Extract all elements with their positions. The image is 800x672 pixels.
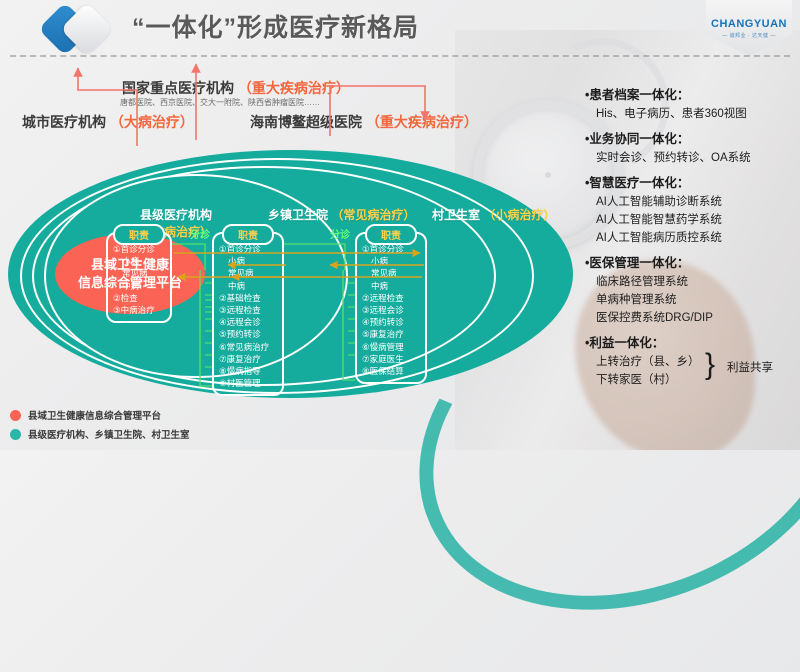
brand-name: CHANGYUAN xyxy=(706,18,792,30)
duty-item: ⑧慢病指导 xyxy=(219,365,277,377)
page-title: “一体化”形成医疗新格局 xyxy=(132,8,419,44)
duty-item: ②检查 xyxy=(113,292,165,304)
integration-lines: 实时会诊、预约转诊、OA系统 xyxy=(585,149,800,165)
duty-item: ⑦家庭医生 xyxy=(362,353,420,365)
slide-header: “一体化”形成医疗新格局 CHANGYUAN — 诚邦业 · 达天健 — xyxy=(0,0,800,58)
duty-card-village: 职责 ①首诊分诊小病常见病中病②远程检查③远程会诊④预约转诊⑤康复治疗⑥慢病管理… xyxy=(355,224,427,384)
diamond-logo-icon xyxy=(46,6,122,52)
duty-list-county: ①首诊分诊小病常见病中病②检查③中病治疗 xyxy=(113,243,165,316)
legend-label: 县域卫生健康信息综合管理平台 xyxy=(28,408,161,422)
duty-item: 中病 xyxy=(113,280,165,292)
duty-item: 常见病 xyxy=(362,267,420,279)
tier-paren-township: （常见病治疗） xyxy=(331,208,415,222)
duty-item: ⑨村医管理 xyxy=(219,377,277,389)
duty-title-county: 职责 xyxy=(113,224,165,245)
duty-title-village: 职责 xyxy=(365,224,417,245)
duty-item: ⑥常见病治疗 xyxy=(219,341,277,353)
duty-list-township: ①首诊分诊小病常见病中病②基础检查③远程检查④远程会诊⑤预约转诊⑥常见病治疗⑦康… xyxy=(219,243,277,389)
triage-label-2: 分诊 xyxy=(330,226,350,241)
duty-item: ⑧医保结算 xyxy=(362,365,420,377)
integration-heading: •智慧医疗一体化： xyxy=(585,172,800,191)
legend: 县域卫生健康信息综合管理平台县级医疗机构、乡镇卫生院、村卫生室 xyxy=(10,403,190,441)
legend-row: 县级医疗机构、乡镇卫生院、村卫生室 xyxy=(10,427,190,441)
legend-color-dot xyxy=(10,410,21,421)
duty-item: 常见病 xyxy=(219,267,277,279)
duty-item: ④预约转诊 xyxy=(362,316,420,328)
integration-lines: AI人工智能辅助诊断系统AI人工智能智慧药学系统AI人工智能病历质控系统 xyxy=(585,193,800,245)
duty-item: ③中病治疗 xyxy=(113,304,165,316)
duty-item: ③远程会诊 xyxy=(362,304,420,316)
integration-lines: His、电子病历、患者360视图 xyxy=(585,105,800,121)
brand-shield-logo: CHANGYUAN — 诚邦业 · 达天健 — xyxy=(706,0,792,56)
duty-item: 中病 xyxy=(362,280,420,292)
integration-line: AI人工智能智慧药学系统 xyxy=(596,211,800,227)
duty-title-township: 职责 xyxy=(222,224,274,245)
integration-line: His、电子病历、患者360视图 xyxy=(596,105,800,121)
integration-heading: •患者档案一体化： xyxy=(585,84,800,103)
legend-label: 县级医疗机构、乡镇卫生院、村卫生室 xyxy=(28,427,190,441)
duty-item: ⑤康复治疗 xyxy=(362,328,420,340)
triage-label-1: 分诊 xyxy=(190,226,210,241)
tier-name-county: 县级医疗机构 xyxy=(140,206,212,223)
duty-list-village: ①首诊分诊小病常见病中病②远程检查③远程会诊④预约转诊⑤康复治疗⑥慢病管理⑦家庭… xyxy=(362,243,420,377)
duty-item: ⑤预约转诊 xyxy=(219,328,277,340)
tier-heading-township: 乡镇卫生院 （常见病治疗） xyxy=(268,206,415,223)
tier-name-village: 村卫生室 xyxy=(432,208,480,222)
duty-item: ②基础检查 xyxy=(219,292,277,304)
duty-item: ⑦康复治疗 xyxy=(219,353,277,365)
duty-item: ②远程检查 xyxy=(362,292,420,304)
legend-row: 县域卫生健康信息综合管理平台 xyxy=(10,408,190,422)
duty-item: 小病 xyxy=(219,255,277,267)
duty-item: ④远程会诊 xyxy=(219,316,277,328)
duty-card-township: 职责 ①首诊分诊小病常见病中病②基础检查③远程检查④远程会诊⑤预约转诊⑥常见病治… xyxy=(212,224,284,396)
integration-line: AI人工智能辅助诊断系统 xyxy=(596,193,800,209)
duty-item: 中病 xyxy=(219,280,277,292)
tier-name-township: 乡镇卫生院 xyxy=(268,208,328,222)
duty-card-county: 职责 ①首诊分诊小病常见病中病②检查③中病治疗 xyxy=(106,224,172,323)
header-divider xyxy=(10,55,790,57)
tier-heading-village: 村卫生室 （小病治疗） xyxy=(432,206,555,223)
duty-item: ③远程检查 xyxy=(219,304,277,316)
integration-line: AI人工智能病历质控系统 xyxy=(596,229,800,245)
duty-item: 常见病 xyxy=(113,267,165,279)
integration-heading: •业务协同一体化： xyxy=(585,128,800,147)
duty-item: 小病 xyxy=(113,255,165,267)
legend-color-dot xyxy=(10,429,21,440)
duty-item: ⑥慢病管理 xyxy=(362,341,420,353)
brand-tagline: — 诚邦业 · 达天健 — xyxy=(706,32,792,39)
tier-paren-village: （小病治疗） xyxy=(483,208,555,222)
integration-line: 实时会诊、预约转诊、OA系统 xyxy=(596,149,800,165)
duty-item: 小病 xyxy=(362,255,420,267)
